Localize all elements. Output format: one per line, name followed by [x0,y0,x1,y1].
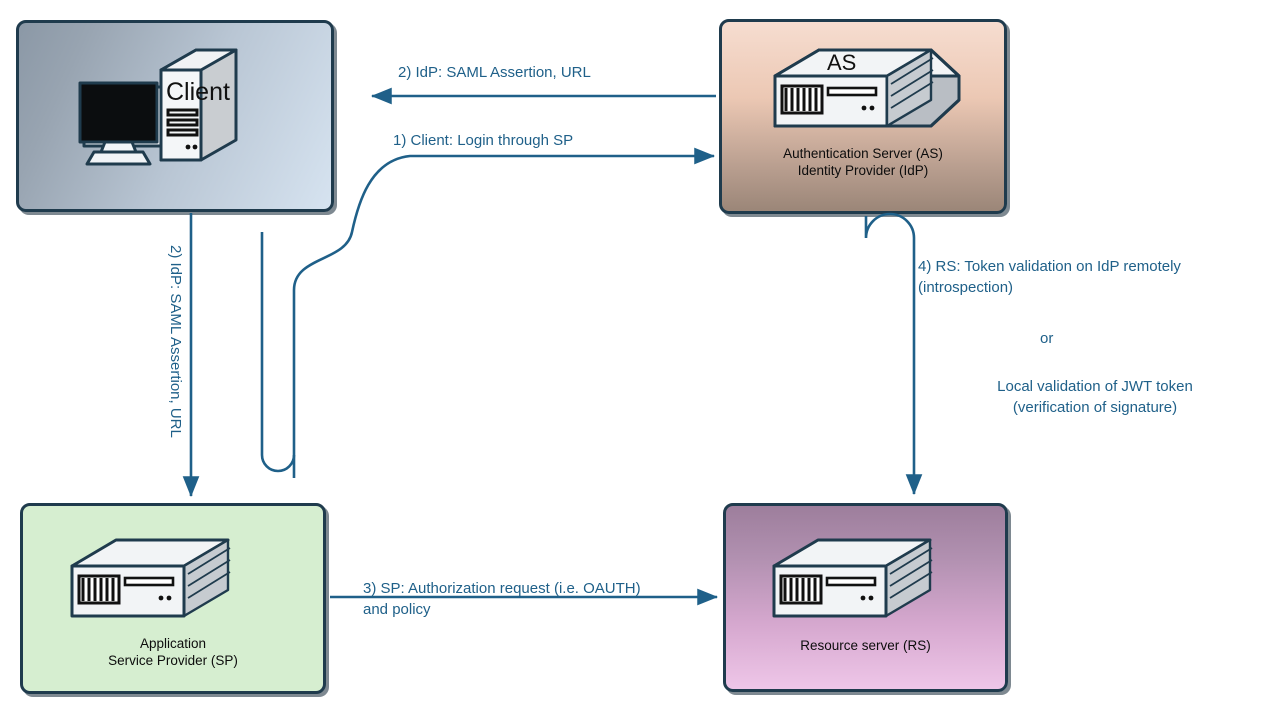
server-icon [770,534,962,634]
flow-label-step2-side: 2) IdP: SAML Assertion, URL [167,245,184,438]
flow-label-step3: 3) SP: Authorization request (i.e. OAUTH… [363,578,641,620]
desktop-computer-icon: Client [58,48,238,180]
flow-label-step2-top: 2) IdP: SAML Assertion, URL [398,62,591,83]
diagram-canvas: Client AS [0,0,1265,713]
sp-caption: Application Service Provider (SP) [20,635,326,669]
arrow-step1 [294,156,714,478]
svg-text:AS: AS [827,50,856,75]
as-caption: Authentication Server (AS) Identity Prov… [719,145,1007,179]
server-icon [68,534,260,634]
flow-label-step4-alt: Local validation of JWT token (verificat… [960,376,1230,418]
server-icon: AS [771,44,963,144]
flow-label-step1: 1) Client: Login through SP [393,130,573,151]
arrow-step1-tail [262,232,294,471]
rs-caption: Resource server (RS) [723,637,1008,654]
arrow-step4 [866,214,914,494]
flow-label-step4-or: or [1040,328,1053,349]
svg-text:Client: Client [166,78,230,106]
flow-label-step4: 4) RS: Token validation on IdP remotely … [918,256,1181,298]
